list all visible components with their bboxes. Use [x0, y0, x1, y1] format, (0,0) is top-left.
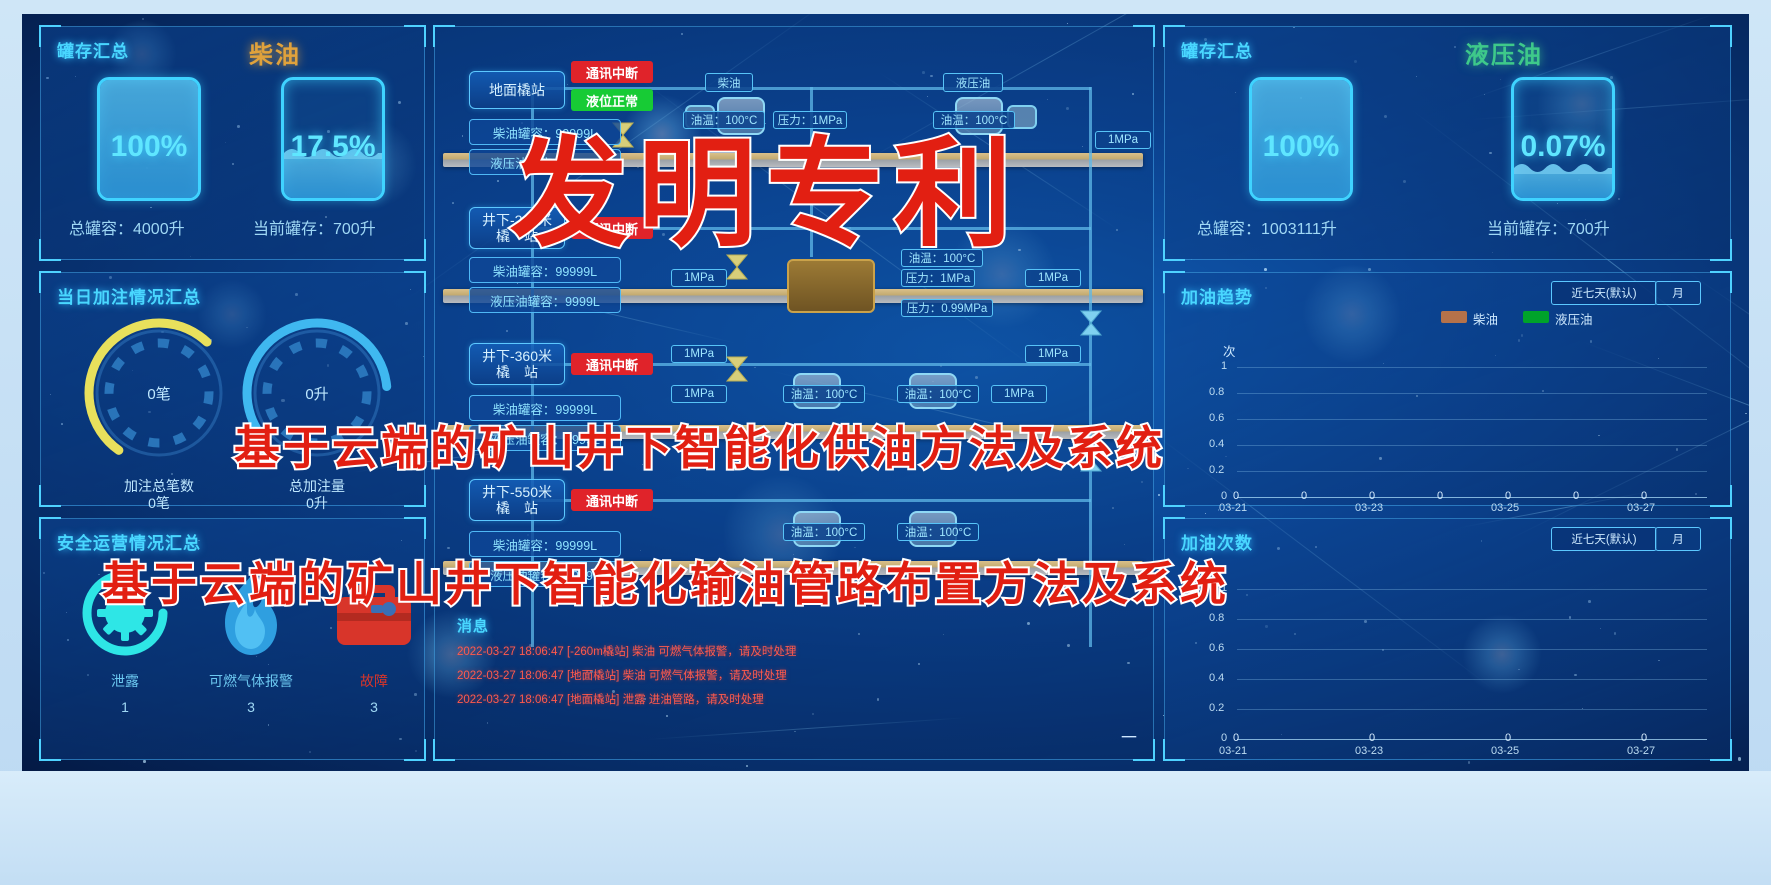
product-label-diesel: 柴油 — [249, 35, 301, 70]
ytick-trend-0: 0 — [1221, 490, 1227, 502]
dashboard-root: 罐存汇总 柴油 100% 17.5% 总罐容：4000升 当前罐存：700升 当… — [0, 0, 1771, 885]
tag-pressure-mid-099: 压力：0.99MPa — [901, 299, 993, 317]
gauge-refuel-count: 0笔 — [79, 313, 239, 473]
tag-oiltemp-level360-right: 油温：100°C — [897, 385, 979, 403]
tag-diesel-surface: 柴油 — [705, 73, 753, 92]
xtick-trend-1: 03-23 — [1355, 502, 1383, 514]
tag-oiltemp-level550-left: 油温：100°C — [783, 523, 865, 541]
tag-pressure-mid: 压力：1MPa — [901, 269, 975, 287]
panel-title-tank-summary-right: 罐存汇总 — [1181, 37, 1253, 62]
point-label-trend-2: 0 — [1369, 490, 1375, 502]
ytick-count-04: 0.4 — [1209, 672, 1224, 684]
safety-label-fault: 故障 — [331, 671, 417, 691]
background-star — [1158, 494, 1160, 496]
tank-current-diesel-fill — [284, 159, 382, 198]
gridline-count-04 — [1237, 679, 1707, 680]
panel-tank-summary-diesel: 罐存汇总 柴油 100% 17.5% 总罐容：4000升 当前罐存：700升 — [40, 26, 425, 260]
message-line-3: 2022-03-27 18:06:47 [地面橇站] 泄露 进油管路，请及时处理 — [457, 691, 764, 707]
gridline-trend-1 — [1237, 367, 1707, 368]
safety-value-leak: 1 — [79, 699, 171, 715]
tag-pressure-level360-left: 1MPa — [671, 345, 727, 363]
station-name-360m: 井下-360米 橇 站 — [482, 348, 552, 380]
bottom-strip — [0, 771, 1771, 885]
gauge-refuel-count-caption-line1: 加注总笔数 — [124, 478, 194, 494]
range-button-month-count-label: 月 — [1672, 531, 1684, 547]
point-label-trend-0: 0 — [1233, 490, 1239, 502]
xtick-trend-3: 03-27 — [1627, 502, 1655, 514]
watermark-title: 发明专利 — [510, 98, 1022, 269]
station-550m-badge-comm-text: 通讯中断 — [586, 491, 638, 510]
point-label-trend-1: 0 — [1301, 490, 1307, 502]
safety-value-gas-alarm: 3 — [183, 699, 319, 715]
tag-pressure-level360-mid2: 1MPa — [991, 385, 1047, 403]
point-label-count-2: 0 — [1505, 732, 1511, 744]
point-label-trend-6: 0 — [1641, 490, 1647, 502]
background-star — [1205, 513, 1206, 514]
gridline-trend-04 — [1237, 445, 1707, 446]
legend-swatch-hydraulic — [1523, 311, 1549, 323]
background-star — [1264, 268, 1267, 271]
gauge-refuel-count-caption: 加注总笔数 0笔 — [79, 478, 239, 512]
gridline-trend-06 — [1237, 419, 1707, 420]
tank-total-hydraulic-percent: 100% — [1252, 130, 1350, 164]
range-button-month-trend-label: 月 — [1672, 285, 1684, 301]
tag-pressure-level2-right: 1MPa — [1025, 269, 1081, 287]
range-button-month-count[interactable]: 月 — [1655, 527, 1701, 551]
ytick-count-06: 0.6 — [1209, 642, 1224, 654]
legend-swatch-diesel — [1441, 311, 1467, 323]
ytick-trend-1: 1 — [1221, 360, 1227, 372]
tag-hydraulic-surface: 液压油 — [943, 73, 1003, 92]
station-200m-row-hydraulic-text: 液压油罐容：9999L — [490, 291, 600, 310]
tag-pressure-surface-right: 1MPa — [1095, 131, 1151, 149]
ytick-trend-04: 0.4 — [1209, 438, 1224, 450]
background-star — [1738, 757, 1741, 760]
tag-pressure-level2-left: 1MPa — [671, 269, 727, 287]
station-box-550m[interactable]: 井下-550米 橇 站 — [469, 479, 565, 521]
watermark-line-1: 基于云端的矿山井下智能化供油方法及系统 — [234, 412, 1165, 478]
zoom-out-button[interactable]: － — [1119, 731, 1139, 745]
gridline-trend-02 — [1237, 471, 1707, 472]
message-line-1: 2022-03-27 18:06:47 [-260m橇站] 柴油 可燃气体报警，… — [457, 643, 796, 659]
point-label-count-3: 0 — [1641, 732, 1647, 744]
ytick-trend-08: 0.8 — [1209, 386, 1224, 398]
station-name-550m: 井下-550米 橇 站 — [482, 484, 552, 516]
background-star — [1067, 23, 1068, 24]
safety-label-gas-alarm: 可燃气体报警 — [183, 671, 319, 691]
gauge-refuel-count-value: 0笔 — [79, 383, 239, 404]
station-360m-badge-comm-text: 通讯中断 — [586, 355, 638, 374]
screen-area: 罐存汇总 柴油 100% 17.5% 总罐容：4000升 当前罐存：700升 当… — [22, 14, 1749, 771]
message-line-2: 2022-03-27 18:06:47 [地面橇站] 柴油 可燃气体报警，请及时… — [457, 667, 787, 683]
tank-total-diesel-label: 总罐容：4000升 — [69, 215, 185, 239]
tank-total-hydraulic: 100% — [1249, 77, 1353, 201]
legend-label-diesel: 柴油 — [1473, 309, 1498, 328]
gridline-count-1 — [1237, 589, 1707, 590]
point-label-trend-3: 0 — [1437, 490, 1443, 502]
watermark-line-2: 基于云端的矿山井下智能化输油管路布置方法及系统 — [102, 548, 1229, 614]
gauge-refuel-volume-caption-line1: 总加注量 — [289, 478, 345, 494]
panel-title-refuel-today: 当日加注情况汇总 — [57, 283, 201, 308]
point-label-count-1: 0 — [1369, 732, 1375, 744]
gridline-trend-08 — [1237, 393, 1707, 394]
point-label-trend-5: 0 — [1573, 490, 1579, 502]
range-button-week-trend[interactable]: 近七天(默认) — [1551, 281, 1657, 305]
axis-x-trend — [1237, 497, 1707, 498]
legend-label-hydraulic: 液压油 — [1555, 309, 1593, 328]
xtick-count-1: 03-23 — [1355, 745, 1383, 757]
product-label-hydraulic: 液压油 — [1465, 35, 1543, 70]
safety-value-fault: 3 — [331, 699, 417, 715]
tank-current-diesel-percent: 17.5% — [284, 130, 382, 164]
background-star — [746, 765, 748, 767]
tank-current-hydraulic: 0.07% — [1511, 77, 1615, 201]
ytick-trend-02: 0.2 — [1209, 464, 1224, 476]
tag-oiltemp-level360-left: 油温：100°C — [783, 385, 865, 403]
xtick-count-3: 03-27 — [1627, 745, 1655, 757]
tag-pressure-level360-mid: 1MPa — [671, 385, 727, 403]
safety-label-leak: 泄露 — [79, 671, 171, 691]
tank-total-hydraulic-label: 总罐容：1003111升 — [1197, 215, 1337, 239]
xtick-trend-0: 03-21 — [1219, 502, 1247, 514]
tank-current-hydraulic-label: 当前罐存：700升 — [1487, 215, 1610, 239]
gauge-refuel-volume-value: 0升 — [237, 383, 397, 404]
tag-pressure-level360-right: 1MPa — [1025, 345, 1081, 363]
messages-title: 消息 — [457, 615, 489, 636]
background-star — [1468, 761, 1471, 764]
panel-title-tank-summary-left: 罐存汇总 — [57, 37, 129, 62]
gridline-count-06 — [1237, 649, 1707, 650]
station-550m-badge-comm: 通讯中断 — [571, 489, 653, 511]
ytick-trend-06: 0.6 — [1209, 412, 1224, 424]
gridline-count-08 — [1237, 619, 1707, 620]
tank-current-diesel: 17.5% — [281, 77, 385, 201]
station-360m-badge-comm: 通讯中断 — [571, 353, 653, 375]
range-button-month-trend[interactable]: 月 — [1655, 281, 1701, 305]
point-label-count-0: 0 — [1233, 732, 1239, 744]
tank-total-diesel-percent: 100% — [100, 130, 198, 164]
xtick-count-0: 03-21 — [1219, 745, 1247, 757]
background-star — [1745, 413, 1747, 415]
tank-current-diesel-label: 当前罐存：700升 — [253, 215, 376, 239]
chart-ylabel-trend: 次 — [1223, 341, 1236, 360]
station-surface-badge-comm: 通讯中断 — [571, 61, 653, 83]
tank-current-hydraulic-percent: 0.07% — [1514, 130, 1612, 164]
range-button-week-count[interactable]: 近七天(默认) — [1551, 527, 1657, 551]
gauge-refuel-count-caption-line2: 0笔 — [148, 495, 170, 511]
gridline-count-02 — [1237, 709, 1707, 710]
range-button-week-trend-label: 近七天(默认) — [1571, 285, 1636, 301]
xtick-count-2: 03-25 — [1491, 745, 1519, 757]
ytick-count-0: 0 — [1221, 732, 1227, 744]
tank-current-hydraulic-fill — [1514, 174, 1612, 198]
station-200m-row-hydraulic: 液压油罐容：9999L — [469, 287, 621, 313]
gauge-refuel-volume-caption-line2: 0升 — [306, 495, 328, 511]
point-label-trend-4: 0 — [1505, 490, 1511, 502]
background-star — [143, 760, 145, 762]
ytick-count-02: 0.2 — [1209, 702, 1224, 714]
station-box-360m[interactable]: 井下-360米 橇 站 — [469, 343, 565, 385]
range-button-week-count-label: 近七天(默认) — [1571, 531, 1636, 547]
gauge-refuel-volume-caption: 总加注量 0升 — [237, 478, 397, 512]
axis-x-count — [1237, 739, 1707, 740]
panel-tank-summary-hydraulic: 罐存汇总 液压油 100% 0.07% 总罐容：1003111升 当前罐存：70… — [1164, 26, 1731, 260]
chart-title-refuel-trend: 加油趋势 — [1181, 283, 1253, 308]
tank-total-diesel: 100% — [97, 77, 201, 201]
tag-oiltemp-level550-right: 油温：100°C — [897, 523, 979, 541]
station-name-surface: 地面橇站 — [489, 82, 545, 98]
panel-refuel-trend-chart: 加油趋势 近七天(默认) 月 柴油 液压油 次 1 0.8 0.6 0.4 0. — [1164, 272, 1731, 506]
station-surface-badge-comm-text: 通讯中断 — [586, 63, 638, 82]
xtick-trend-2: 03-25 — [1491, 502, 1519, 514]
panel-refuel-count-chart: 加油次数 近七天(默认) 月 1 0.8 0.6 0.4 0.2 0 0 0 0… — [1164, 518, 1731, 760]
